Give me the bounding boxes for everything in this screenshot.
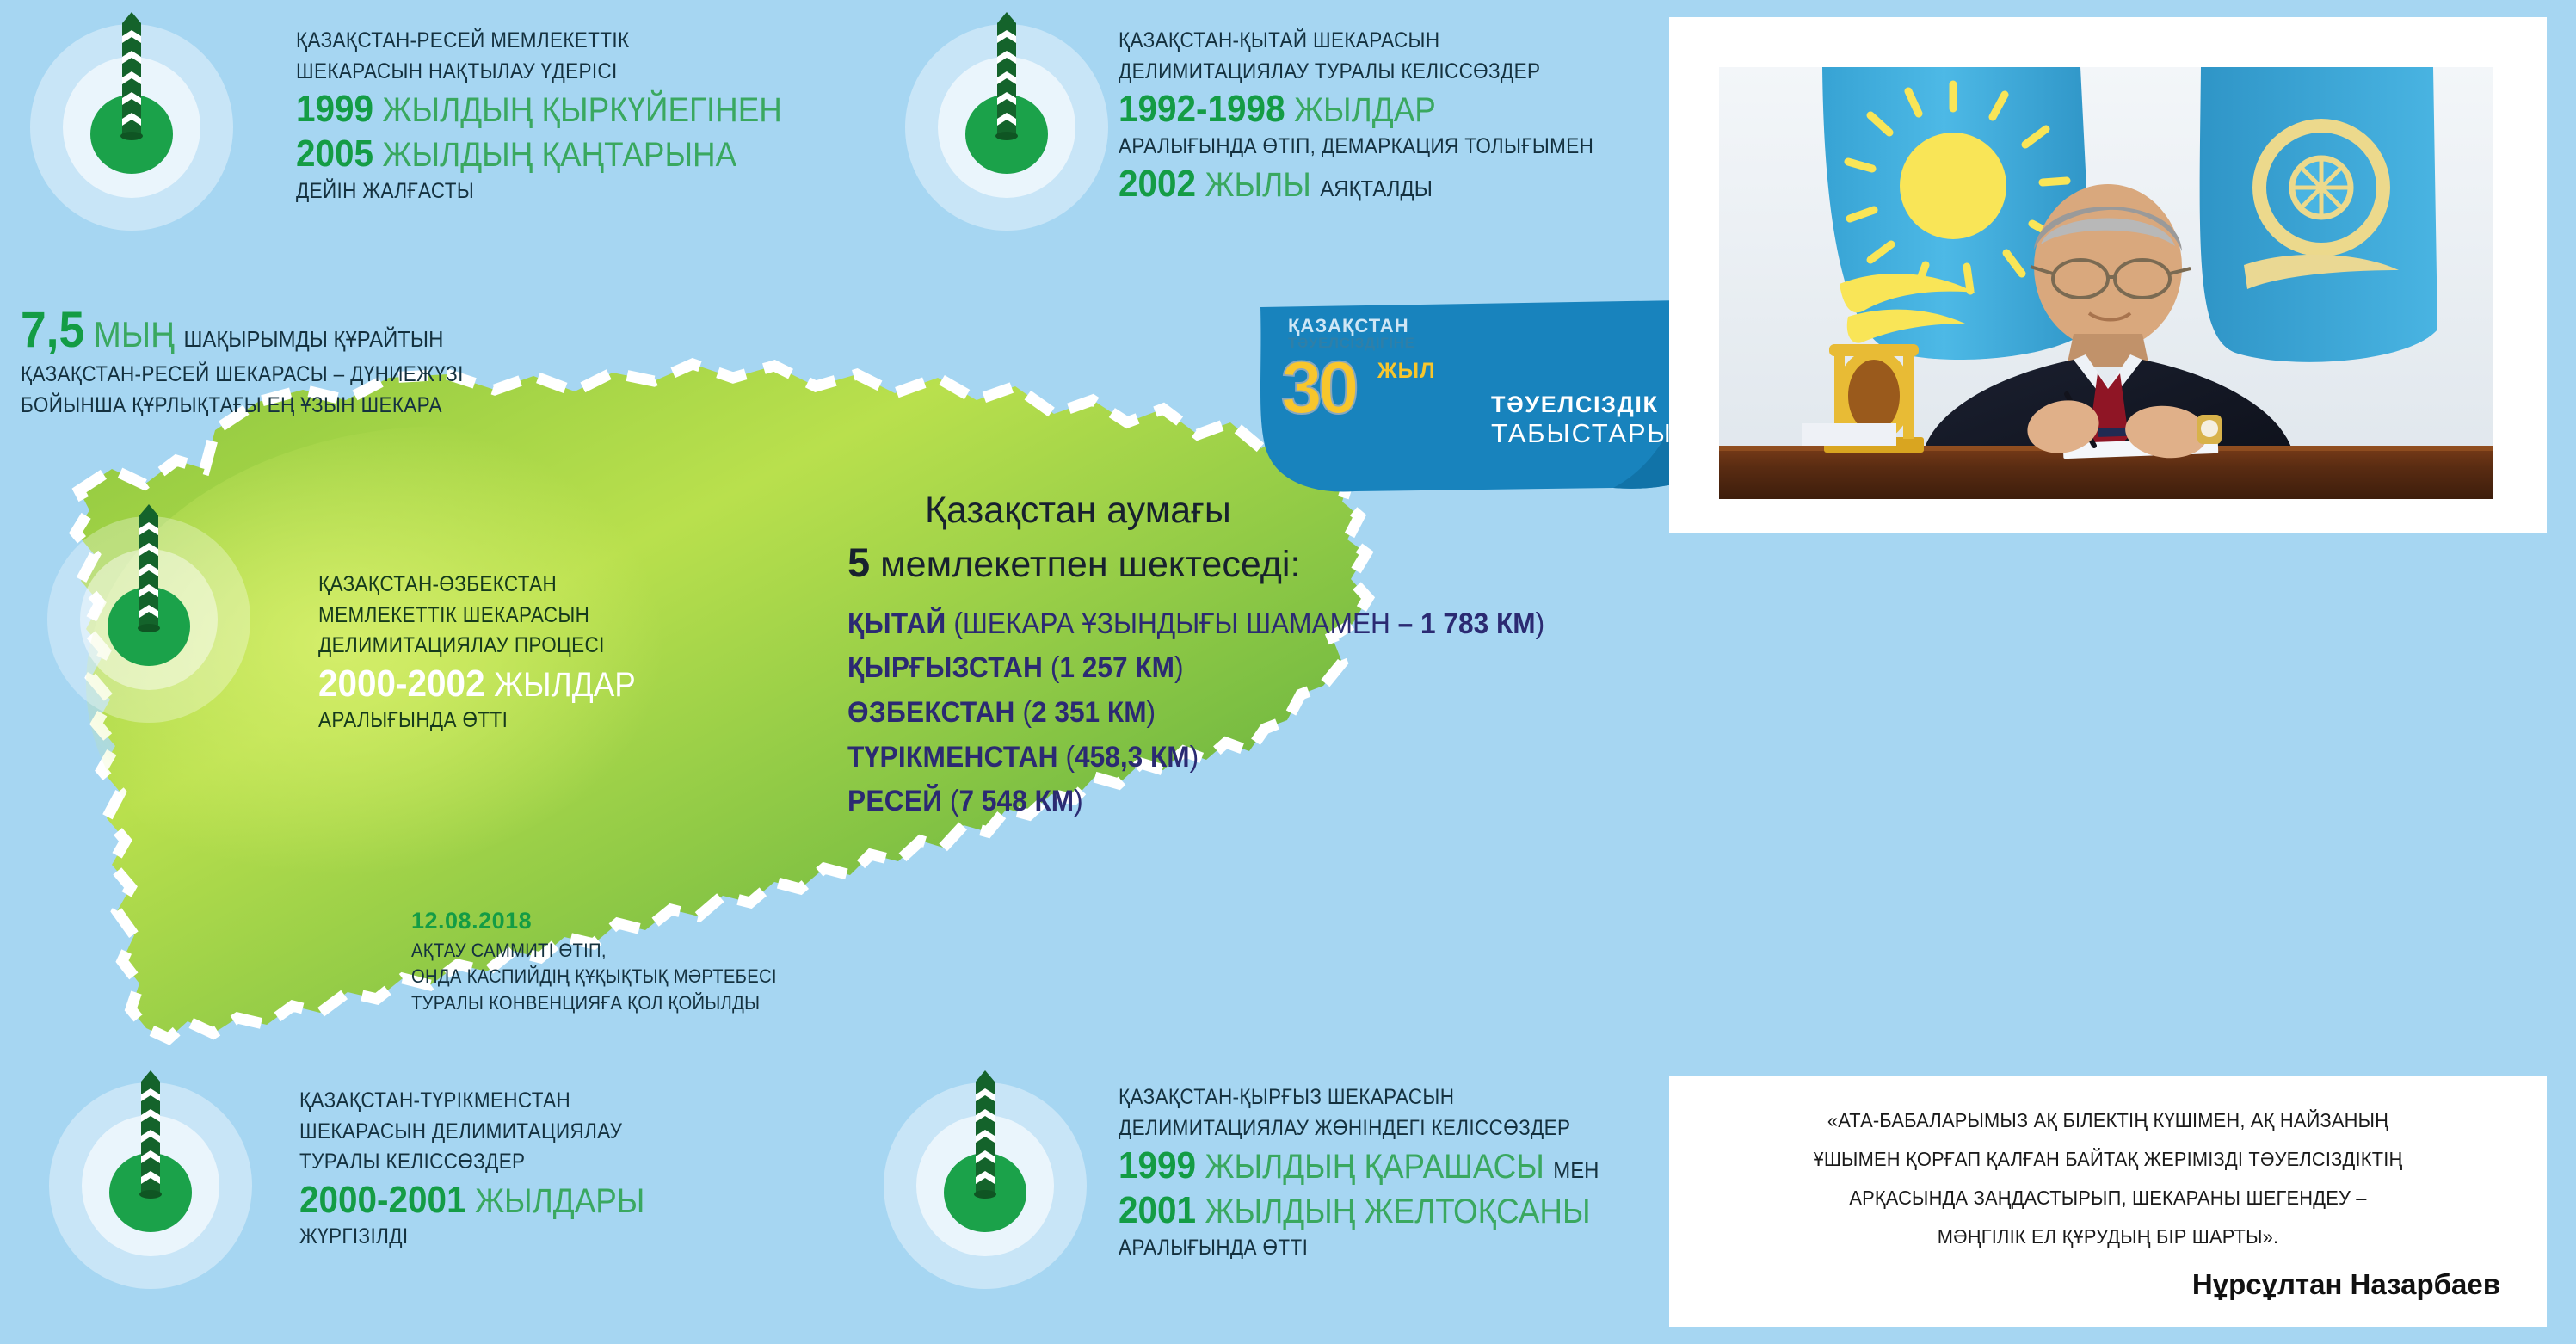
neighbour-close: ) — [1190, 741, 1199, 774]
russia-year2-row: 2005 ЖЫЛДЫҢ ҚАҢТАРЫНА — [296, 132, 782, 176]
kyrgyzstan-intro-line1: ҚАЗАҚСТАН-ҚЫРҒЫЗ ШЕКАРАСЫН — [1119, 1082, 1588, 1113]
aktau-line1: АҚТАУ САММИТІ ӨТІП, — [411, 938, 783, 964]
quote-line3: АРҚАСЫНДА ЗАҢДАСТЫРЫП, ШЕКАРАНЫ ШЕГЕНДЕУ… — [1724, 1179, 2493, 1218]
neighbour-length: 1 783 КМ — [1420, 607, 1536, 640]
neighbour-close: ) — [1147, 696, 1156, 729]
president-photo — [1719, 67, 2493, 499]
quote-text: «АТА-БАБАЛАРЫМЫЗ АҚ БІЛЕКТІҢ КҮШІМЕН, АҚ… — [1692, 1101, 2525, 1255]
china-year1-text: ЖЫЛДАР — [1294, 91, 1436, 129]
ribbon-years-word: ЖЫЛ — [1377, 359, 1436, 384]
border-post-icon — [139, 1070, 162, 1199]
kyrgyzstan-year1-row: 1999 ЖЫЛДЫҢ ҚАРАШАСЫ МЕН — [1119, 1144, 1599, 1188]
turkmenistan-year1: 2000-2001 — [299, 1179, 466, 1221]
aktau-line2: ОНДА КАСПИЙДІҢ ҚҰҚЫҚТЫҚ МӘРТЕБЕСІ — [411, 964, 783, 990]
list-item: ҚЫРҒЫЗСТАН (1 257 КМ) — [847, 646, 1584, 691]
china-year1-row: 1992-1998 ЖЫЛДАР — [1119, 87, 1605, 132]
kyrgyzstan-year2-text: ЖЫЛДЫҢ ЖЕЛТОҚСАНЫ — [1205, 1193, 1591, 1230]
turkmenistan-outro: ЖҮРГІЗІЛДІ — [299, 1222, 638, 1253]
neighbour-country: ҚЫРҒЫЗСТАН — [847, 651, 1043, 684]
independence-30-years-ribbon: ҚАЗАҚСТАН ТӘУЕЛСІЗДІГІНЕ 30 ЖЫЛ ТӘУЕЛСІЗ… — [1252, 288, 1734, 521]
kyrgyzstan-intro-line2: ДЕЛИМИТАЦИЯЛАУ ЖӨНІНДЕГІ КЕЛІССӨЗДЕР — [1119, 1113, 1588, 1144]
neighbour-country: ҚЫТАЙ — [847, 607, 946, 640]
turkmenistan-intro-line1: ҚАЗАҚСТАН-ТҮРІКМЕНСТАН — [299, 1086, 638, 1117]
kyrgyzstan-year2: 2001 — [1119, 1189, 1196, 1231]
kyrgyzstan-year1-tail: МЕН — [1553, 1157, 1599, 1183]
kyrgyzstan-outro: АРАЛЫҒЫНДА ӨТТІ — [1119, 1233, 1588, 1264]
russia-length-number: 7,5 — [21, 302, 84, 358]
neighbours-summary: Қазақстан аумағы 5 мемлекетпен шектеседі… — [847, 486, 1639, 824]
neighbour-close: ) — [1074, 785, 1083, 817]
border-post-icon — [120, 12, 143, 141]
china-mid: АРАЛЫҒЫНДА ӨТІП, ДЕМАРКАЦИЯ ТОЛЫҒЫМЕН — [1119, 132, 1593, 163]
border-post-icon — [138, 504, 160, 633]
text-block-russia-clarification: ҚАЗАҚСТАН-РЕСЕЙ МЕМЛЕКЕТТІК ШЕКАРАСЫН НА… — [296, 26, 824, 207]
china-year2-row: 2002 ЖЫЛЫ АЯҚТАЛДЫ — [1119, 162, 1605, 207]
list-item: ҚЫТАЙ (ШЕКАРА ҰЗЫНДЫҒЫ ШАМАМЕН – 1 783 К… — [847, 602, 1584, 647]
neighbour-length: 2 351 КМ — [1032, 696, 1147, 729]
russia-intro-line2: ШЕКАРАСЫН НАҚТЫЛАУ ҮДЕРІСІ — [296, 57, 772, 88]
russia-year1: 1999 — [296, 88, 373, 130]
russia-outro: ДЕЙІН ЖАЛҒАСТЫ — [296, 176, 772, 207]
neighbour-country: ӨЗБЕКСТАН — [847, 696, 1015, 729]
russia-length-line1-tail: ШАҚЫРЫМДЫ ҚҰРАЙТЫН — [183, 326, 443, 352]
text-block-kyrgyzstan-delimitation: ҚАЗАҚСТАН-ҚЫРҒЫЗ ШЕКАРАСЫН ДЕЛИМИТАЦИЯЛА… — [1119, 1082, 1641, 1263]
neighbour-country: ТҮРІКМЕНСТАН — [847, 741, 1058, 774]
list-item: РЕСЕЙ (7 548 КМ) — [847, 780, 1584, 824]
russia-length-headline: 7,5 МЫҢ ШАҚЫРЫМДЫ ҚҰРАЙТЫН — [21, 301, 473, 360]
china-year1: 1992-1998 — [1119, 88, 1285, 130]
neighbours-heading-line2-wrap: 5 мемлекетпен шектеседі: — [847, 536, 1639, 590]
turkmenistan-year1-text: ЖЫЛДАРЫ — [475, 1182, 644, 1220]
aktau-date: 12.08.2018 — [411, 908, 816, 934]
text-block-uzbekistan-delimitation: ҚАЗАҚСТАН-ӨЗБЕКСТАН МЕМЛЕКЕТТІК ШЕКАРАСЫ… — [318, 570, 663, 737]
russia-length-line3: БОЙЫНША ҚҰРЛЫҚТАҒЫ ЕҢ ҰЗЫН ШЕКАРА — [21, 391, 464, 422]
neighbours-count: 5 — [847, 539, 870, 585]
photo-card — [1669, 17, 2547, 533]
uzbekistan-year1-row: 2000-2002 ЖЫЛДАР — [318, 662, 636, 706]
infographic-canvas: ҚАЗАҚСТАН-РЕСЕЙ МЕМЛЕКЕТТІК ШЕКАРАСЫН НА… — [0, 0, 2576, 1344]
border-post-marker-uzbekistan — [33, 490, 265, 749]
uzbekistan-intro-line2: МЕМЛЕКЕТТІК ШЕКАРАСЫН — [318, 601, 629, 632]
uzbekistan-intro-line3: ДЕЛИМИТАЦИЯЛАУ ПРОЦЕСІ — [318, 631, 629, 662]
text-block-aktau-summit: 12.08.2018 АҚТАУ САММИТІ ӨТІП, ОНДА КАСП… — [411, 908, 816, 1016]
neighbour-close: ) — [1536, 607, 1545, 640]
neighbour-detail: ( — [950, 785, 959, 817]
turkmenistan-year1-row: 2000-2001 ЖЫЛДАРЫ — [299, 1178, 644, 1223]
border-post-marker-kyrgyzstan — [869, 1057, 1101, 1315]
neighbours-heading-line2: мемлекетпен шектеседі: — [880, 544, 1300, 585]
text-block-russia-border-length: 7,5 МЫҢ ШАҚЫРЫМДЫ ҚҰРАЙТЫН ҚАЗАҚСТАН-РЕС… — [21, 301, 513, 421]
neighbour-length: 458,3 КМ — [1075, 741, 1190, 774]
neighbour-detail: (ШЕКАРА ҰЗЫНДЫҒЫ ШАМАМЕН — [953, 607, 1390, 640]
russia-length-unit: МЫҢ — [94, 314, 175, 354]
text-block-turkmenistan-delimitation: ҚАЗАҚСТАН-ТҮРІКМЕНСТАН ШЕКАРАСЫН ДЕЛИМИТ… — [299, 1086, 675, 1253]
text-block-china-delimitation: ҚАЗАҚСТАН-ҚЫТАЙ ШЕКАРАСЫН ДЕЛИМИТАЦИЯЛАУ… — [1119, 26, 1647, 207]
neighbour-length: 7 548 КМ — [959, 785, 1075, 817]
quote-line4: МӘҢГІЛІК ЕЛ ҚҰРУДЫҢ БІР ШАРТЫ». — [1724, 1218, 2493, 1256]
china-year2-text: ЖЫЛЫ — [1205, 166, 1311, 204]
kyrgyzstan-year2-row: 2001 ЖЫЛДЫҢ ЖЕЛТОҚСАНЫ — [1119, 1188, 1599, 1233]
border-post-icon — [974, 1070, 996, 1199]
uzbekistan-intro-line1: ҚАЗАҚСТАН-ӨЗБЕКСТАН — [318, 570, 629, 601]
aktau-line3: ТУРАЛЫ КОНВЕНЦИЯҒА ҚОЛ ҚОЙЫЛДЫ — [411, 990, 783, 1016]
border-post-icon — [995, 12, 1018, 141]
list-item: ТҮРІКМЕНСТАН (458,3 КМ) — [847, 736, 1584, 780]
russia-length-line2: ҚАЗАҚСТАН-РЕСЕЙ ШЕКАРАСЫ – ДҮНИЕЖҮЗІ — [21, 360, 464, 391]
uzbekistan-outro: АРАЛЫҒЫНДА ӨТТІ — [318, 706, 629, 737]
photo-illustration — [1719, 67, 2493, 499]
neighbours-list: ҚЫТАЙ (ШЕКАРА ҰЗЫНДЫҒЫ ШАМАМЕН – 1 783 К… — [847, 602, 1639, 824]
russia-year1-text: ЖЫЛДЫҢ ҚЫРКҮЙЕГІНЕН — [383, 91, 782, 129]
uzbekistan-year1: 2000-2002 — [318, 663, 485, 705]
china-intro-line1: ҚАЗАҚСТАН-ҚЫТАЙ ШЕКАРАСЫН — [1119, 26, 1593, 57]
neighbour-length: 1 257 КМ — [1059, 651, 1174, 684]
quote-card: «АТА-БАБАЛАРЫМЫЗ АҚ БІЛЕКТІҢ КҮШІМЕН, АҚ… — [1669, 1076, 2547, 1327]
border-post-marker-china — [891, 0, 1123, 256]
russia-year2-text: ЖЫЛДЫҢ ҚАҢТАРЫНА — [383, 136, 737, 174]
china-intro-line2: ДЕЛИМИТАЦИЯЛАУ ТУРАЛЫ КЕЛІССӨЗДЕР — [1119, 57, 1593, 88]
uzbekistan-year1-text: ЖЫЛДАР — [494, 666, 636, 704]
turkmenistan-intro-line3: ТУРАЛЫ КЕЛІССӨЗДЕР — [299, 1147, 638, 1178]
china-year2: 2002 — [1119, 163, 1196, 205]
neighbour-dash: – — [1398, 607, 1414, 640]
ribbon-logo-line1: ҚАЗАҚСТАН — [1288, 316, 1469, 336]
neighbour-country: РЕСЕЙ — [847, 785, 942, 817]
quote-line2: ҰШЫМЕН ҚОРҒАП ҚАЛҒАН БАЙТАҚ ЖЕРІМІЗДІ ТӘ… — [1724, 1140, 2493, 1179]
russia-year2: 2005 — [296, 133, 373, 175]
kyrgyzstan-year1: 1999 — [1119, 1144, 1196, 1187]
border-post-marker-russia — [15, 0, 248, 256]
ribbon-number-30: 30 — [1281, 355, 1355, 422]
china-outro: АЯҚТАЛДЫ — [1320, 176, 1433, 201]
neighbour-detail: ( — [1066, 741, 1075, 774]
quote-author: Нұрсұлтан Назарбаев — [1669, 1256, 2547, 1301]
quote-line1: «АТА-БАБАЛАРЫМЫЗ АҚ БІЛЕКТІҢ КҮШІМЕН, АҚ… — [1724, 1101, 2493, 1140]
turkmenistan-intro-line2: ШЕКАРАСЫН ДЕЛИМИТАЦИЯЛАУ — [299, 1117, 638, 1148]
border-post-marker-turkmenistan — [34, 1057, 267, 1315]
russia-year1-row: 1999 ЖЫЛДЫҢ ҚЫРКҮЙЕГІНЕН — [296, 87, 782, 132]
russia-intro-line1: ҚАЗАҚСТАН-РЕСЕЙ МЕМЛЕКЕТТІК — [296, 26, 772, 57]
list-item: ӨЗБЕКСТАН (2 351 КМ) — [847, 691, 1584, 736]
neighbour-detail: ( — [1022, 696, 1032, 729]
kyrgyzstan-year1-text: ЖЫЛДЫҢ ҚАРАШАСЫ — [1205, 1148, 1544, 1186]
neighbour-detail: ( — [1051, 651, 1060, 684]
neighbour-close: ) — [1174, 651, 1184, 684]
